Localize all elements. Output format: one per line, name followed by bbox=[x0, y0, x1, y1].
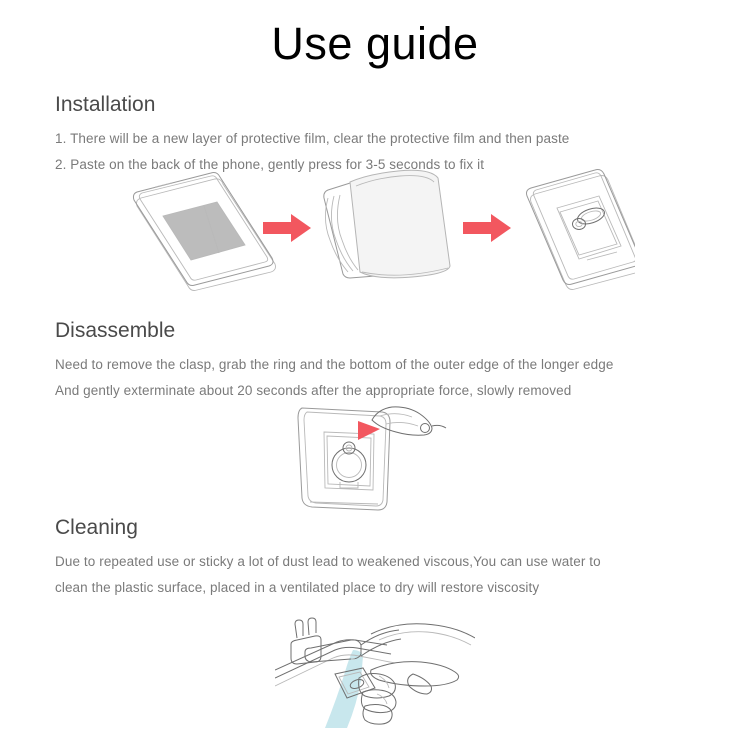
phone-with-ring-holder-icon bbox=[527, 170, 636, 290]
use-guide-page: Use guide Installation 1. There will be … bbox=[0, 0, 750, 750]
page-title: Use guide bbox=[0, 18, 750, 70]
section-heading-installation: Installation bbox=[55, 92, 750, 118]
body-line: clean the plastic surface, placed in a v… bbox=[55, 575, 750, 601]
red-arrow-icon bbox=[263, 214, 311, 242]
disassemble-illustration bbox=[0, 402, 750, 512]
body-line: Need to remove the clasp, grab the ring … bbox=[55, 352, 750, 378]
section-body-cleaning: Due to repeated use or sticky a lot of d… bbox=[55, 549, 750, 601]
peeling-protective-film-icon bbox=[324, 170, 450, 278]
cleaning-illustration bbox=[0, 612, 750, 747]
section-disassemble: Disassemble Need to remove the clasp, gr… bbox=[0, 318, 750, 404]
section-body-disassemble: Need to remove the clasp, grab the ring … bbox=[55, 352, 750, 404]
body-line: And gently exterminate about 20 seconds … bbox=[55, 378, 750, 404]
red-arrow-icon bbox=[463, 214, 511, 242]
hand-pulling-clasp-icon bbox=[372, 407, 446, 435]
faucet-icon bbox=[291, 618, 401, 664]
body-line: 1. There will be a new layer of protecti… bbox=[55, 126, 750, 152]
section-heading-disassemble: Disassemble bbox=[55, 318, 750, 344]
water-stream-icon bbox=[325, 650, 363, 728]
installation-steps-illustration bbox=[0, 168, 750, 293]
body-line: Due to repeated use or sticky a lot of d… bbox=[55, 549, 750, 575]
section-installation: Installation 1. There will be a new laye… bbox=[0, 92, 750, 178]
phone-with-adhesive-pad-icon bbox=[133, 173, 275, 291]
section-cleaning: Cleaning Due to repeated use or sticky a… bbox=[0, 515, 750, 601]
section-heading-cleaning: Cleaning bbox=[55, 515, 750, 541]
